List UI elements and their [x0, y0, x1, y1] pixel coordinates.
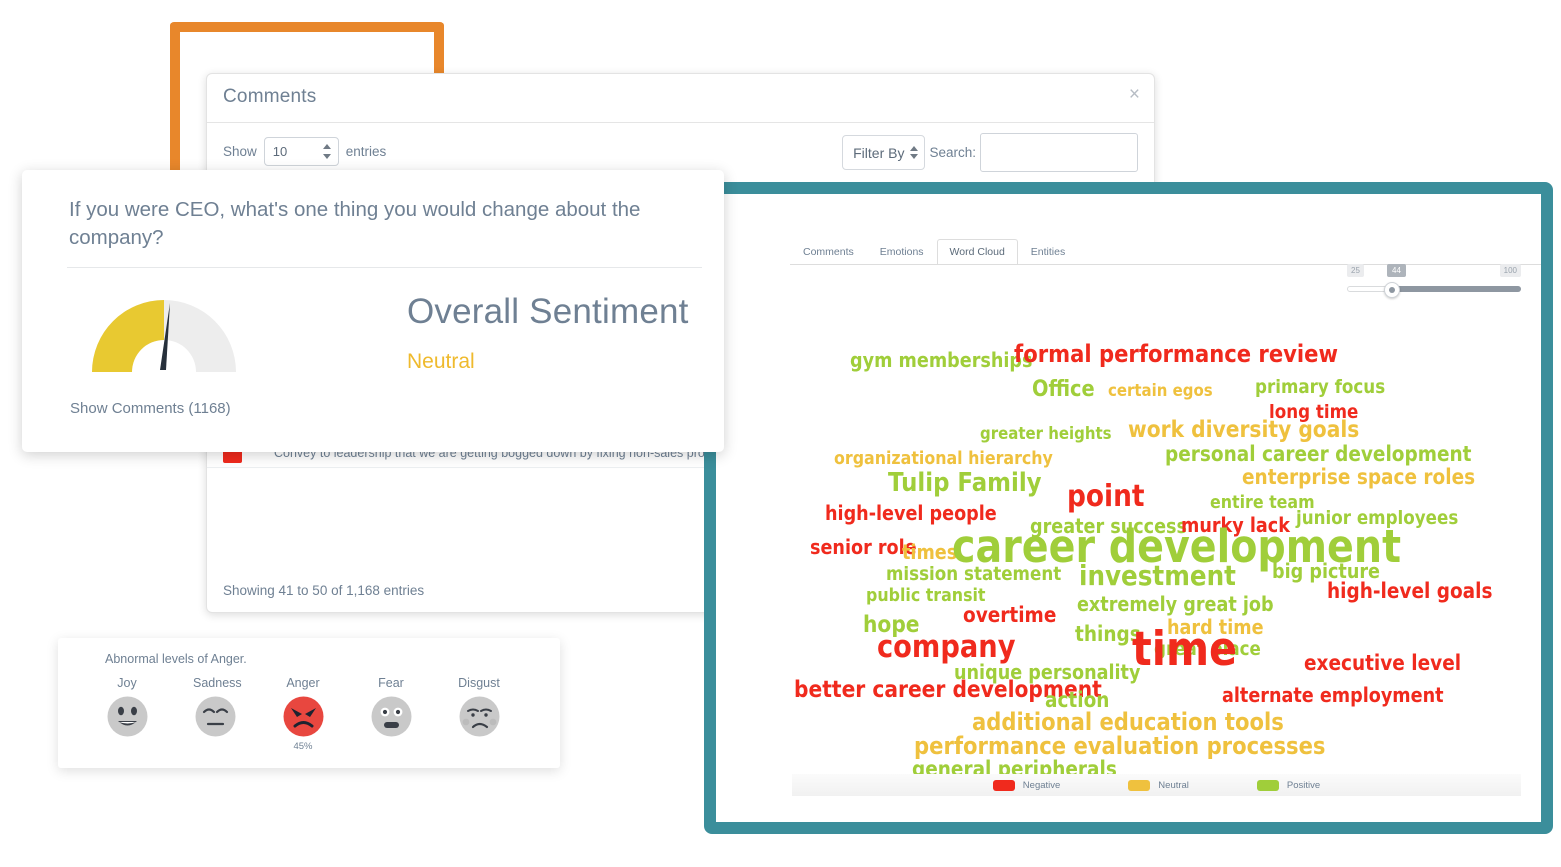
legend-label: Negative	[1023, 780, 1061, 791]
show-entries-control: Show 10 entries	[223, 137, 386, 166]
emotion-label: Joy	[105, 676, 149, 690]
table-footer-status: Showing 41 to 50 of 1,168 entries	[223, 583, 424, 598]
sad-face-icon	[195, 696, 236, 737]
page-title: Comments	[223, 86, 316, 108]
slider-fill	[1389, 286, 1521, 292]
word-cloud-term[interactable]: executive level	[1304, 653, 1461, 674]
word-cloud-term[interactable]: formal performance review	[1014, 342, 1338, 366]
tab-word-cloud[interactable]: Word Cloud	[937, 239, 1018, 264]
word-cloud-term[interactable]: Tulip Family	[888, 470, 1042, 496]
legend-item: Positive	[1257, 780, 1320, 791]
word-cloud-term[interactable]: primary focus	[1255, 378, 1385, 397]
word-cloud-term[interactable]: Office	[1032, 379, 1095, 401]
word-cloud-term[interactable]: company	[877, 632, 1015, 663]
word-cloud-term[interactable]: performance evaluation processes	[914, 734, 1325, 758]
word-cloud-term[interactable]: gym memberships	[850, 350, 1032, 370]
legend-swatch	[993, 780, 1015, 791]
emotions-strip: JoySadnessAnger45%FearDisgust	[105, 676, 501, 752]
word-cloud-term[interactable]: big picture	[1272, 561, 1380, 581]
word-cloud-tabs: CommentsEmotionsWord CloudEntities	[790, 238, 1078, 264]
sentiment-gauge	[84, 292, 244, 378]
tab-comments[interactable]: Comments	[790, 239, 867, 264]
word-cloud-term[interactable]: things	[1075, 624, 1141, 645]
show-label: Show	[223, 144, 257, 159]
legend-item: Negative	[993, 780, 1061, 791]
emotion-label: Fear	[369, 676, 413, 690]
emotion-percent: 45%	[281, 741, 325, 752]
divider	[67, 267, 702, 268]
entries-select[interactable]: 10	[264, 137, 339, 166]
word-cloud-term[interactable]: additional education tools	[972, 710, 1284, 734]
word-cloud-term[interactable]: times	[902, 542, 957, 562]
word-cloud-term[interactable]: alternate employment	[1222, 685, 1444, 705]
angry-face-icon	[283, 696, 324, 737]
filter-by-label: Filter By	[853, 145, 904, 161]
emotions-note: Abnormal levels of Anger.	[105, 652, 247, 666]
word-cloud-term[interactable]: work diversity goals	[1128, 419, 1359, 442]
emotion-disgust[interactable]: Disgust	[457, 676, 501, 752]
legend-label: Neutral	[1158, 780, 1189, 791]
legend-label: Positive	[1287, 780, 1320, 791]
word-cloud: gym membershipsformal performance review…	[792, 302, 1522, 782]
word-cloud-term[interactable]: high-level goals	[1327, 581, 1492, 602]
fear-face-icon	[371, 696, 412, 737]
tab-emotions[interactable]: Emotions	[867, 239, 937, 264]
sentiment-value: Neutral	[407, 350, 475, 374]
chevron-updown-icon	[323, 142, 331, 161]
slider-max-label: 100	[1500, 264, 1521, 277]
word-cloud-panel: CommentsEmotionsWord CloudEntities 25 44…	[716, 194, 1541, 822]
slider-min-label: 25	[1347, 264, 1364, 277]
word-cloud-term[interactable]: overtime	[963, 605, 1056, 626]
word-cloud-legend: NegativeNeutralPositive	[792, 774, 1521, 796]
slider-handle[interactable]	[1384, 282, 1400, 298]
slider-value-label: 44	[1387, 264, 1406, 277]
close-icon[interactable]: ×	[1129, 85, 1140, 104]
filter-search-group: Filter By Search:	[842, 133, 1138, 172]
word-cloud-term[interactable]: personal career development	[1165, 444, 1472, 465]
word-cloud-term[interactable]: certain egos	[1108, 383, 1213, 400]
filter-by-select[interactable]: Filter By	[842, 135, 925, 170]
tab-entities[interactable]: Entities	[1018, 239, 1078, 264]
word-cloud-term[interactable]: investment	[1079, 562, 1236, 590]
emotion-joy[interactable]: Joy	[105, 676, 149, 752]
chevron-updown-icon	[910, 144, 918, 161]
emotions-card: Abnormal levels of Anger. JoySadnessAnge…	[58, 638, 560, 768]
emotion-label: Anger	[281, 676, 325, 690]
word-cloud-term[interactable]: greater heights	[980, 426, 1112, 443]
show-comments-link[interactable]: Show Comments (1168)	[70, 400, 231, 417]
emotion-anger[interactable]: Anger45%	[281, 676, 325, 752]
search-input[interactable]	[980, 133, 1138, 172]
emotion-label: Disgust	[457, 676, 501, 690]
word-cloud-term[interactable]: mission statement	[886, 565, 1061, 584]
disgust-face-icon	[459, 696, 500, 737]
legend-swatch	[1128, 780, 1150, 791]
legend-item: Neutral	[1128, 780, 1189, 791]
emotion-fear[interactable]: Fear	[369, 676, 413, 752]
word-cloud-term[interactable]: extremely great job	[1077, 594, 1274, 614]
sentiment-title: Overall Sentiment	[407, 292, 689, 332]
word-cloud-term[interactable]: senior role	[810, 537, 917, 557]
word-cloud-term[interactable]: enterprise space roles	[1242, 467, 1475, 488]
word-count-slider[interactable]: 25 44 100	[1339, 264, 1523, 298]
entries-select-value: 10	[265, 144, 287, 159]
word-cloud-term[interactable]: point	[1067, 482, 1145, 512]
emotion-label: Sadness	[193, 676, 237, 690]
entries-label: entries	[346, 144, 387, 159]
joy-face-icon	[107, 696, 148, 737]
survey-question: If you were CEO, what's one thing you wo…	[69, 196, 684, 252]
word-cloud-term[interactable]: time	[1132, 626, 1237, 673]
search-label: Search:	[929, 145, 976, 160]
overall-sentiment-card: If you were CEO, what's one thing you wo…	[22, 170, 724, 452]
comments-panel-header: Comments ×	[207, 74, 1154, 123]
word-cloud-term[interactable]: organizational hierarchy	[834, 450, 1053, 468]
legend-swatch	[1257, 780, 1279, 791]
emotion-sadness[interactable]: Sadness	[193, 676, 237, 752]
